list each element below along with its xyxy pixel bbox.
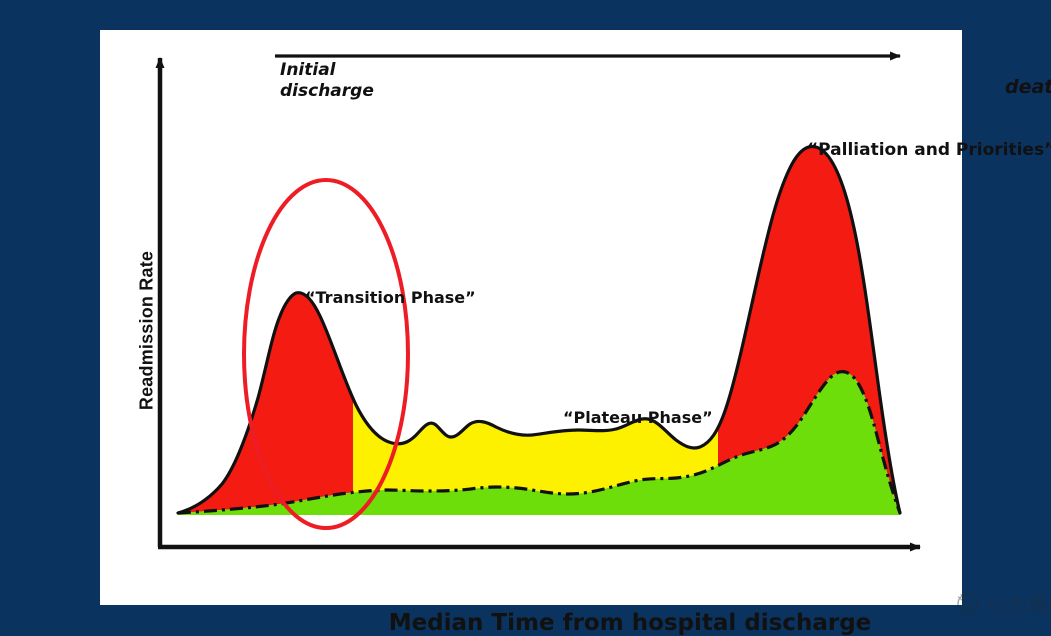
watermark-text: 心力衰竭网 [988, 590, 1051, 617]
figure-panel: Initial discharge death “Palliation and … [100, 30, 962, 605]
y-axis-title: Readmission Rate [137, 221, 158, 441]
readmission-rate-figure [0, 0, 1051, 624]
slide-background: Initial discharge death “Palliation and … [0, 0, 1051, 624]
annotation-plateau-phase: “Plateau Phase” [563, 408, 713, 427]
smiley-face-logo [955, 591, 981, 617]
timeline-end-label: death [1005, 76, 1051, 98]
x-axis-title: Median Time from hospital discharge [280, 610, 980, 636]
watermark: 心力衰竭网 [955, 590, 1051, 617]
timeline-start-label: Initial discharge [280, 60, 374, 102]
timeline-start-label-line1: Initial [280, 60, 374, 81]
annotation-palliation-and-priorities: “Palliation and Priorities” [807, 140, 1051, 160]
annotation-transition-phase: “Transition Phase” [305, 288, 476, 307]
timeline-start-label-line2: discharge [280, 81, 374, 102]
